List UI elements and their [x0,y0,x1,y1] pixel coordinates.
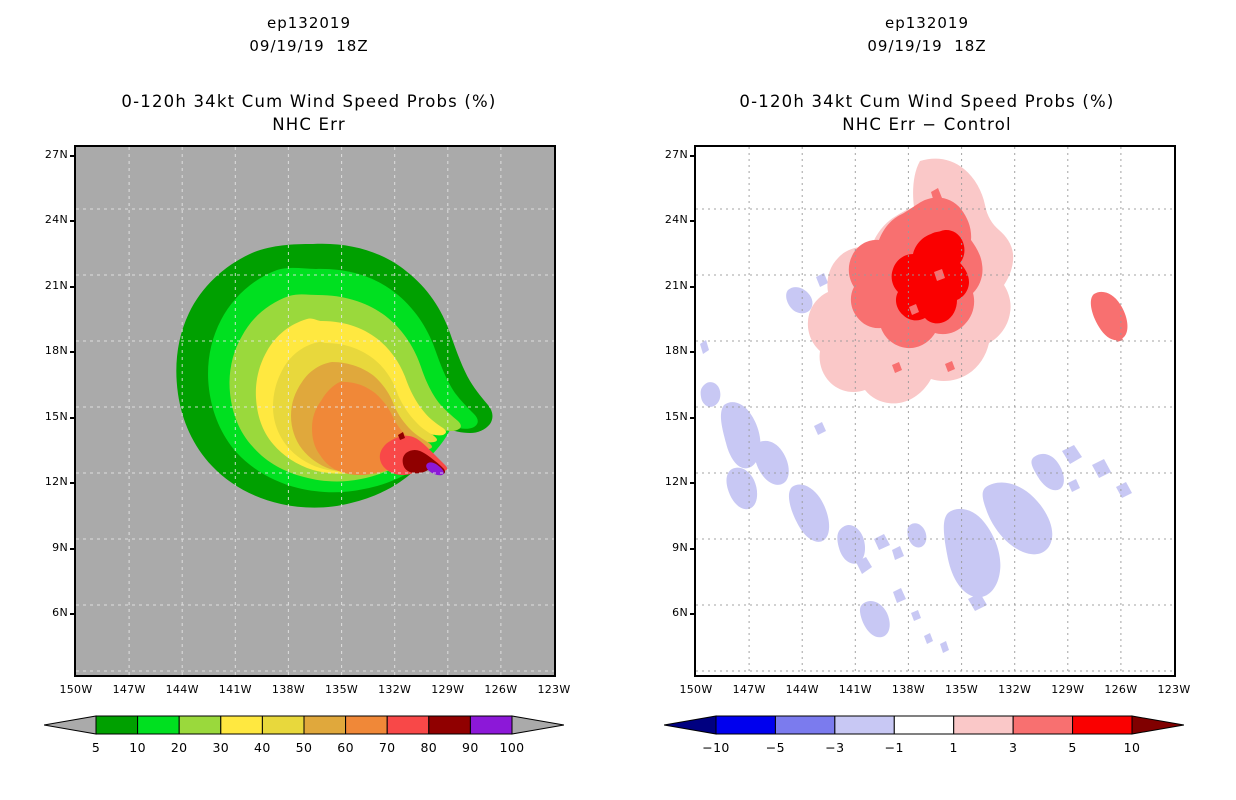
x-tick-label-right-5: 135W [940,683,984,696]
y-tick-mark-left-1 [70,548,76,550]
right-title-line1: 0-120h 34kt Cum Wind Speed Probs (%) [618,90,1236,113]
panel-nhc-err: ep132019 09/19/19 18Z 0-120h 34kt Cum Wi… [0,0,618,800]
colorbar-segment-left-2 [179,716,221,734]
y-tick-label-right-3: 15N [650,410,688,423]
x-tick-label-left-1: 147W [107,683,151,696]
y-tick-label-right-4: 18N [650,344,688,357]
y-tick-label-left-0: 6N [30,606,68,619]
x-tick-label-left-0: 150W [54,683,98,696]
colorbar-segment-right-3 [894,716,953,734]
y-tick-label-left-6: 24N [30,213,68,226]
x-tick-label-left-9: 123W [532,683,576,696]
colorbar-segment-left-0 [96,716,138,734]
colorbar-nhc-err[interactable] [44,712,564,738]
left-subtitle-block: 0-120h 34kt Cum Wind Speed Probs (%) NHC… [0,90,618,136]
right-title-line2: NHC Err − Control [618,113,1236,136]
x-tick-label-left-7: 129W [426,683,470,696]
y-tick-mark-left-3 [70,417,76,419]
colorbar-right-arrow-right [1132,716,1184,734]
y-tick-mark-right-7 [690,155,696,157]
y-tick-mark-left-7 [70,155,76,157]
right-title-block: ep132019 09/19/19 18Z [618,12,1236,58]
x-tick-label-left-5: 135W [320,683,364,696]
colorbar-right-arrow-left [512,716,564,734]
y-tick-label-left-5: 21N [30,279,68,292]
panel-nhc-err-minus-control: ep132019 09/19/19 18Z 0-120h 34kt Cum Wi… [618,0,1236,800]
x-tick-label-right-2: 144W [780,683,824,696]
colorbar-tick-label-right-7: 10 [1107,740,1157,755]
colorbar-left-arrow-right [664,716,716,734]
map-plot-nhc-err[interactable] [74,145,556,677]
y-tick-mark-left-2 [70,482,76,484]
x-tick-label-right-9: 123W [1152,683,1196,696]
colorbar-segment-left-6 [346,716,388,734]
colorbar-segment-right-6 [1073,716,1132,734]
y-tick-label-right-0: 6N [650,606,688,619]
y-tick-label-left-3: 15N [30,410,68,423]
colorbar-segment-left-1 [138,716,180,734]
colorbar-segment-right-1 [775,716,834,734]
y-tick-mark-left-4 [70,351,76,353]
colorbar-segment-left-7 [387,716,429,734]
x-tick-label-right-3: 141W [833,683,877,696]
x-tick-label-right-4: 138W [886,683,930,696]
x-tick-label-right-8: 126W [1099,683,1143,696]
colorbar-tick-label-right-0: −10 [691,740,741,755]
colorbar-left-arrow-left [44,716,96,734]
x-tick-label-left-4: 138W [266,683,310,696]
contour-field-difference [696,147,1174,675]
colorbar-tick-label-right-3: −1 [869,740,919,755]
right-subtitle-block: 0-120h 34kt Cum Wind Speed Probs (%) NHC… [618,90,1236,136]
colorbar-segment-left-5 [304,716,346,734]
left-title-line1: 0-120h 34kt Cum Wind Speed Probs (%) [0,90,618,113]
y-tick-mark-right-0 [690,613,696,615]
colorbar-tick-label-right-4: 1 [929,740,979,755]
y-tick-mark-right-1 [690,548,696,550]
left-title-line2: NHC Err [0,113,618,136]
colorbar-segment-left-4 [262,716,304,734]
y-tick-mark-right-2 [690,482,696,484]
colorbar-segment-right-4 [954,716,1013,734]
right-datetime: 09/19/19 18Z [618,35,1236,58]
y-tick-mark-left-5 [70,286,76,288]
x-tick-label-left-6: 132W [373,683,417,696]
colorbar-segment-left-8 [429,716,471,734]
left-storm-id: ep132019 [0,12,618,35]
contour-field-nhc-err [76,147,554,675]
colorbar-tick-label-right-1: −5 [750,740,800,755]
colorbar-segment-left-3 [221,716,263,734]
right-storm-id: ep132019 [618,12,1236,35]
colorbar-tick-label-right-5: 3 [988,740,1038,755]
x-tick-label-right-1: 147W [727,683,771,696]
y-tick-label-right-7: 27N [650,148,688,161]
left-title-block: ep132019 09/19/19 18Z [0,12,618,58]
y-tick-label-left-4: 18N [30,344,68,357]
map-plot-difference[interactable] [694,145,1176,677]
y-tick-mark-right-4 [690,351,696,353]
x-tick-label-right-0: 150W [674,683,718,696]
y-tick-mark-right-6 [690,220,696,222]
y-tick-label-right-2: 12N [650,475,688,488]
x-tick-label-left-8: 126W [479,683,523,696]
colorbar-segment-right-5 [1013,716,1072,734]
colorbar-tick-label-right-6: 5 [1048,740,1098,755]
colorbar-segment-right-2 [835,716,894,734]
colorbar-difference[interactable] [664,712,1184,738]
x-tick-label-left-3: 141W [213,683,257,696]
x-tick-label-right-6: 132W [993,683,1037,696]
y-tick-label-left-1: 9N [30,541,68,554]
y-tick-label-left-2: 12N [30,475,68,488]
y-tick-label-right-1: 9N [650,541,688,554]
y-tick-mark-right-3 [690,417,696,419]
y-tick-label-left-7: 27N [30,148,68,161]
x-tick-label-left-2: 144W [160,683,204,696]
colorbar-segment-left-9 [470,716,512,734]
y-tick-mark-left-6 [70,220,76,222]
colorbar-tick-label-right-2: −3 [810,740,860,755]
x-tick-label-right-7: 129W [1046,683,1090,696]
y-tick-label-right-5: 21N [650,279,688,292]
y-tick-mark-left-0 [70,613,76,615]
left-datetime: 09/19/19 18Z [0,35,618,58]
y-tick-label-right-6: 24N [650,213,688,226]
colorbar-tick-label-left-10: 100 [487,740,537,755]
y-tick-mark-right-5 [690,286,696,288]
colorbar-segment-right-0 [716,716,775,734]
